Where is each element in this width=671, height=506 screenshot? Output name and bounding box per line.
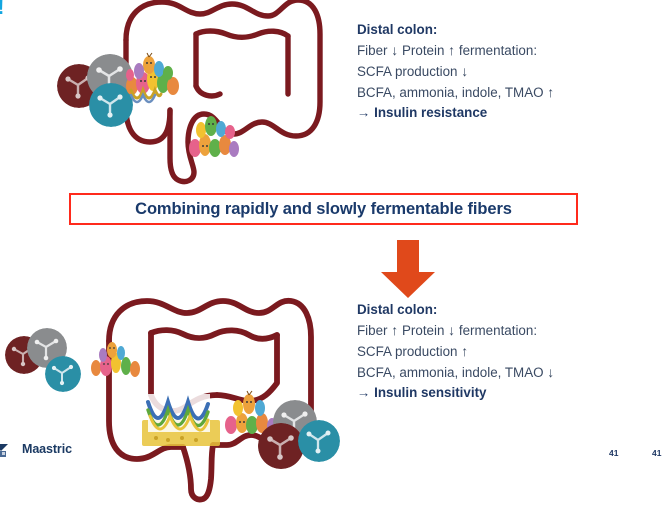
molecule-icon-teal-bottom-left — [45, 356, 81, 392]
info-bottom-line1-c: fermentation: — [459, 323, 537, 338]
info-top-line3-a: BCFA, ammonia, indole, TMAO — [357, 85, 544, 100]
info-top-line1-a: Fiber — [357, 43, 388, 58]
info-bottom-line2: SCFA production — [357, 341, 554, 362]
info-bottom-line1-a: Fiber — [357, 323, 388, 338]
info-top-line1-b: Protein — [402, 43, 444, 58]
info-bottom-header: Distal colon: — [357, 300, 554, 320]
info-top-line1-c: fermentation: — [459, 43, 537, 58]
info-block-bottom: Distal colon: Fiber Protein fermentation… — [357, 300, 554, 403]
info-top-line2-a: SCFA production — [357, 64, 458, 79]
info-top-line3: BCFA, ammonia, indole, TMAO — [357, 82, 554, 103]
info-bottom-line3-a: BCFA, ammonia, indole, TMAO — [357, 365, 544, 380]
fiber-helix-icon-top — [129, 86, 163, 106]
info-bottom-line2-a: SCFA production — [357, 344, 458, 359]
fiber-helix-graphic-bottom — [142, 392, 220, 450]
molecule-icon-teal-bottom-right — [298, 420, 340, 462]
arrow-down-icon — [461, 63, 468, 79]
page-title: our diet! — [0, 0, 4, 20]
arrow-up-icon — [461, 343, 468, 359]
info-bottom-line3: BCFA, ammonia, indole, TMAO — [357, 362, 554, 383]
info-bottom-line1: Fiber Protein fermentation: — [357, 320, 554, 341]
info-top-header: Distal colon: — [357, 20, 554, 40]
info-block-top: Distal colon: Fiber Protein fermentation… — [357, 20, 554, 123]
info-top-line2: SCFA production — [357, 61, 554, 82]
arrow-down-icon — [448, 322, 455, 338]
arrow-down-icon — [391, 42, 398, 58]
molecule-icon-dark-red-bottom-right — [258, 423, 304, 469]
footer-logo: Maastric — [0, 440, 72, 458]
page-number-left: 41 — [609, 448, 618, 458]
microbiota-cluster-top-sigmoid — [186, 112, 244, 160]
down-arrow-icon — [377, 238, 439, 300]
arrow-up-icon — [547, 84, 554, 100]
info-bottom-conclusion: → Insulin sensitivity — [357, 383, 554, 403]
headline-callout-box: Combining rapidly and slowly fermentable… — [69, 193, 578, 225]
info-bottom-line1-b: Protein — [402, 323, 444, 338]
arrow-down-icon — [547, 364, 554, 380]
info-top-line1: Fiber Protein fermentation: — [357, 40, 554, 61]
slide-canvas: our diet! — [0, 0, 671, 506]
arrow-up-icon — [391, 322, 398, 338]
footer-logo-text: Maastric — [22, 442, 72, 456]
university-logo-icon — [0, 440, 16, 458]
arrow-up-icon — [448, 42, 455, 58]
headline-text: Combining rapidly and slowly fermentable… — [135, 200, 512, 219]
microbiota-cluster-bottom-left — [88, 338, 144, 378]
page-number-right: 41 — [652, 448, 661, 458]
info-top-conclusion: → Insulin resistance — [357, 103, 554, 123]
